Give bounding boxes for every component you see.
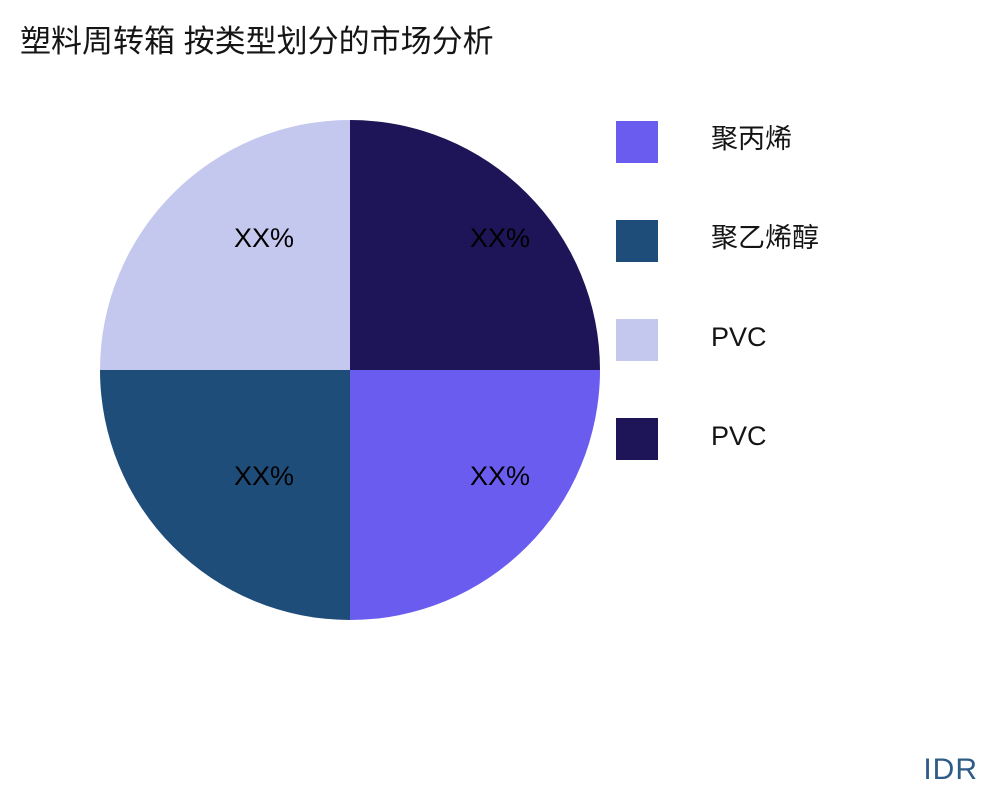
page-title: 塑料周转箱 按类型划分的市场分析 bbox=[20, 22, 494, 62]
legend-item[interactable]: 聚丙烯 bbox=[616, 118, 976, 217]
legend-item-label: PVC bbox=[711, 316, 767, 358]
pie-slice[interactable] bbox=[100, 120, 350, 370]
legend-color-swatch bbox=[616, 220, 658, 262]
pie-slice-label: XX% bbox=[470, 461, 530, 491]
pie-slice[interactable] bbox=[100, 370, 350, 620]
legend-color-swatch bbox=[616, 121, 658, 163]
legend-item[interactable]: PVC bbox=[616, 316, 976, 415]
legend-item-label: PVC bbox=[711, 415, 767, 457]
legend-color-swatch bbox=[616, 418, 658, 460]
pie-slice[interactable] bbox=[350, 370, 600, 620]
chart-canvas: 塑料周转箱 按类型划分的市场分析 XX%XX%XX%XX% 聚丙烯聚乙烯醇PVC… bbox=[0, 0, 1000, 800]
legend-item-label: 聚乙烯醇 bbox=[711, 217, 819, 259]
legend-item[interactable]: 聚乙烯醇 bbox=[616, 217, 976, 316]
pie-slice-label: XX% bbox=[234, 223, 294, 253]
pie-slice-group bbox=[100, 120, 600, 620]
pie-slice-label: XX% bbox=[470, 223, 530, 253]
pie-chart: XX%XX%XX%XX% bbox=[100, 120, 600, 620]
pie-chart-svg: XX%XX%XX%XX% bbox=[100, 120, 600, 620]
legend-item-label: 聚丙烯 bbox=[711, 118, 792, 160]
pie-slice-label: XX% bbox=[234, 461, 294, 491]
watermark-idr: IDR bbox=[923, 752, 978, 788]
legend-item[interactable]: PVC bbox=[616, 415, 976, 514]
legend-color-swatch bbox=[616, 319, 658, 361]
chart-legend: 聚丙烯聚乙烯醇PVCPVC bbox=[616, 118, 976, 514]
